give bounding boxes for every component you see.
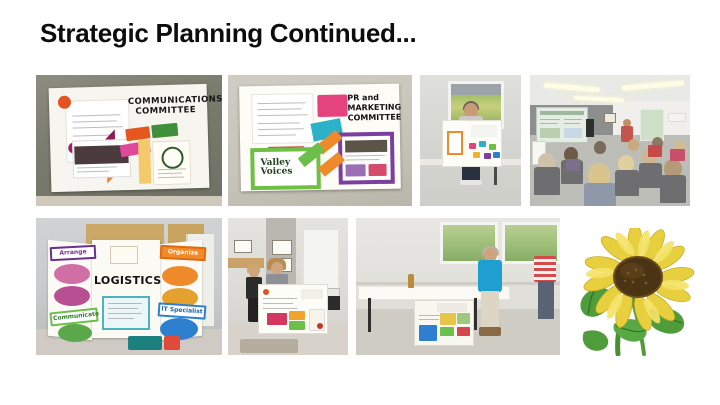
photo-two-women-with-poster[interactable] (228, 218, 348, 355)
tag-organize: Organize (160, 245, 207, 261)
pink-oval-note (54, 264, 90, 284)
poster-board: PR and MARKETING COMMITTEE Valley Voices (239, 84, 401, 192)
framed-picture-3 (234, 240, 252, 253)
photo-woman-standing-with-board[interactable] (356, 218, 560, 355)
sunflower-icon (560, 228, 708, 356)
held-poster (258, 284, 328, 334)
catering-note-card (110, 246, 138, 264)
printed-document (251, 93, 314, 144)
display-board (414, 300, 474, 346)
sunflower-center (614, 257, 662, 297)
person-background-right (534, 248, 556, 328)
green-folder-on-floor (128, 336, 162, 350)
photo-woman-holding-poster-window[interactable] (420, 75, 521, 206)
poster-orange-frame (447, 131, 463, 155)
floor-rug (240, 339, 298, 353)
floor-strip (36, 196, 222, 206)
magenta-oval-note (54, 286, 90, 306)
logistics-heading: LOGISTICS (94, 274, 160, 287)
slide-canvas: Strategic Planning Continued... COMMUNIC… (0, 0, 720, 405)
board-heading: COMMUNICATIONS COMMITTEE (128, 95, 204, 117)
yellow-menu-card (138, 139, 151, 183)
person-figure (476, 248, 504, 344)
table-leg (368, 298, 371, 332)
window-blind (451, 84, 501, 95)
photo-communications-committee-board[interactable]: COMMUNICATIONS COMMITTEE (36, 75, 222, 206)
poster-board: COMMUNICATIONS COMMITTEE (49, 84, 210, 192)
wall-rail (356, 282, 560, 285)
framed-picture (272, 240, 292, 255)
bottle-on-table (408, 274, 414, 288)
green-oval-note (58, 324, 92, 342)
organization-logo-card (152, 140, 191, 185)
poster-heading-text (471, 125, 497, 137)
sticky-label-newsletter (151, 123, 178, 138)
projector-screen (536, 107, 588, 143)
pink-card (317, 95, 347, 118)
held-poster (442, 120, 502, 167)
wall-picture (604, 113, 616, 123)
center-info-card (102, 296, 150, 330)
loudspeaker (586, 119, 594, 137)
board-heading: PR and MARKETING COMMITTEE (347, 93, 398, 124)
photo-logistics-trifold-board[interactable]: LOGISTICS Arrange Organize Communicate I… (36, 218, 222, 355)
exit-door (640, 109, 664, 141)
purple-triangle-accent (105, 129, 115, 139)
red-item-on-floor (164, 336, 180, 350)
air-conditioner (668, 113, 686, 122)
photo-pr-marketing-board[interactable]: PR and MARKETING COMMITTEE Valley Voices (228, 75, 412, 206)
tag-arrange: Arrange (50, 245, 97, 261)
purple-panel (338, 132, 395, 185)
orange-oval-note (162, 266, 198, 286)
page-title: Strategic Planning Continued... (40, 18, 416, 49)
photo-meeting-room-audience[interactable] (530, 75, 690, 206)
